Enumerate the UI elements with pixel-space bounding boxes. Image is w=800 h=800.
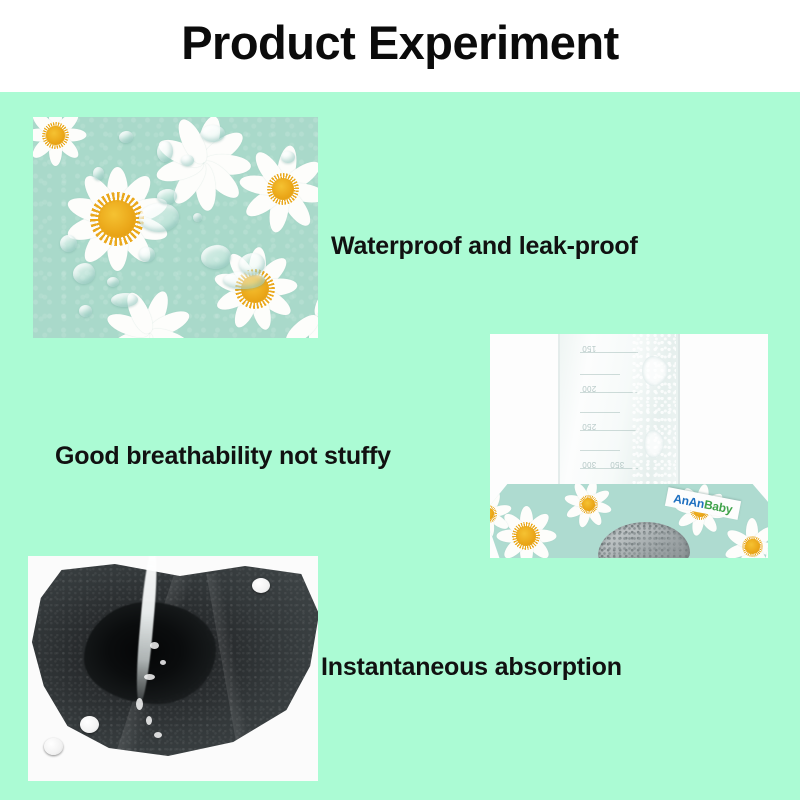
water-droplet [73, 263, 95, 284]
snap-button [252, 578, 270, 593]
water-droplet [93, 167, 104, 180]
charcoal-pad-absorption-photo [28, 556, 318, 781]
water-droplet [119, 131, 133, 143]
water-droplet [201, 125, 225, 142]
water-droplet [281, 151, 295, 163]
beaker-graduation-label: 150 [582, 344, 596, 353]
beaker-breathability-photo: 150 200 250 300 350 [490, 334, 768, 558]
water-droplet [139, 203, 179, 232]
daisy-waterproof-fabric-photo [33, 117, 318, 338]
water-splash [144, 674, 155, 680]
water-droplet [111, 293, 138, 307]
beaker-graduation-label: 350 [610, 460, 624, 469]
water-droplet [201, 245, 231, 269]
beaker-graduation-label: 300 [582, 460, 596, 469]
water-droplet [193, 213, 202, 222]
water-splash [150, 642, 159, 649]
infographic-page: Product Experiment [0, 0, 800, 800]
water-splash [154, 732, 162, 738]
water-droplet [60, 235, 77, 252]
snap-button [44, 738, 63, 755]
water-droplet [157, 189, 177, 204]
brand-tag-text-secondary: Baby [703, 497, 734, 516]
beaker-graduation-label: 250 [582, 422, 596, 431]
caption-absorption: Instantaneous absorption [321, 652, 622, 682]
beaker-graduation-label: 200 [582, 384, 596, 393]
water-droplet [139, 247, 155, 262]
water-droplet [157, 141, 173, 162]
measuring-beaker: 150 200 250 300 350 [558, 334, 680, 499]
snap-button [80, 716, 99, 733]
caption-waterproof: Waterproof and leak-proof [331, 231, 638, 261]
water-droplet [107, 277, 119, 287]
water-droplet [223, 271, 265, 289]
page-title: Product Experiment [0, 14, 800, 72]
brand-tag-text-primary: AnAn [672, 491, 705, 511]
water-droplet [79, 305, 92, 317]
water-droplet [181, 155, 194, 166]
water-droplet [239, 253, 265, 275]
water-splash [146, 716, 152, 725]
caption-breathability: Good breathability not stuffy [55, 441, 391, 471]
water-splash [136, 698, 143, 710]
water-splash [160, 660, 166, 665]
